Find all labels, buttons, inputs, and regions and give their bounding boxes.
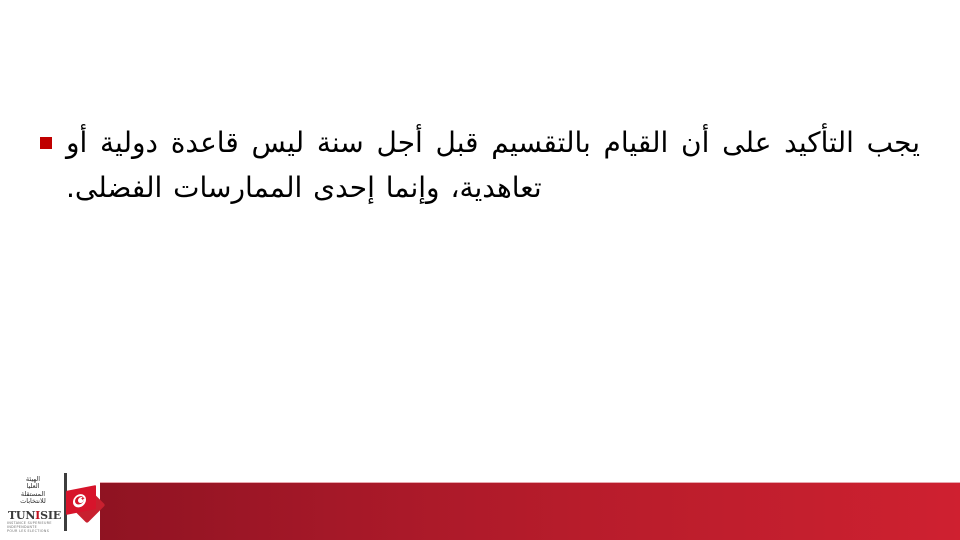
footer-band bbox=[0, 482, 960, 540]
logo-arabic-text: الهيئة العليا المستقلة للانتخابات bbox=[7, 476, 59, 506]
footer-band-bar bbox=[100, 482, 960, 540]
bullet-item-text: يجب التأكيد على أن القيام بالتقسيم قبل أ… bbox=[66, 120, 920, 211]
tunisia-flag-icon: ✦ bbox=[66, 485, 96, 515]
bullet-list-item[interactable]: يجب التأكيد على أن القيام بالتقسيم قبل أ… bbox=[40, 120, 920, 211]
logo-tagline: INSTANCE SUPERIEURE INDEPENDANTE POUR LE… bbox=[7, 521, 61, 533]
isie-tunisie-logo: الهيئة العليا المستقلة للانتخابات TUNISI… bbox=[4, 468, 96, 536]
flag-white-disc: ✦ bbox=[73, 493, 86, 509]
logo-arabic-line-4: للانتخابات bbox=[7, 498, 59, 505]
square-bullet-icon bbox=[40, 137, 52, 149]
star-icon: ✦ bbox=[80, 496, 85, 503]
slide-canvas: يجب التأكيد على أن القيام بالتقسيم قبل أ… bbox=[0, 0, 960, 540]
logo-tagline-line-3: POUR LES ELECTIONS bbox=[7, 529, 61, 533]
content-placeholder[interactable]: يجب التأكيد على أن القيام بالتقسيم قبل أ… bbox=[40, 120, 920, 211]
